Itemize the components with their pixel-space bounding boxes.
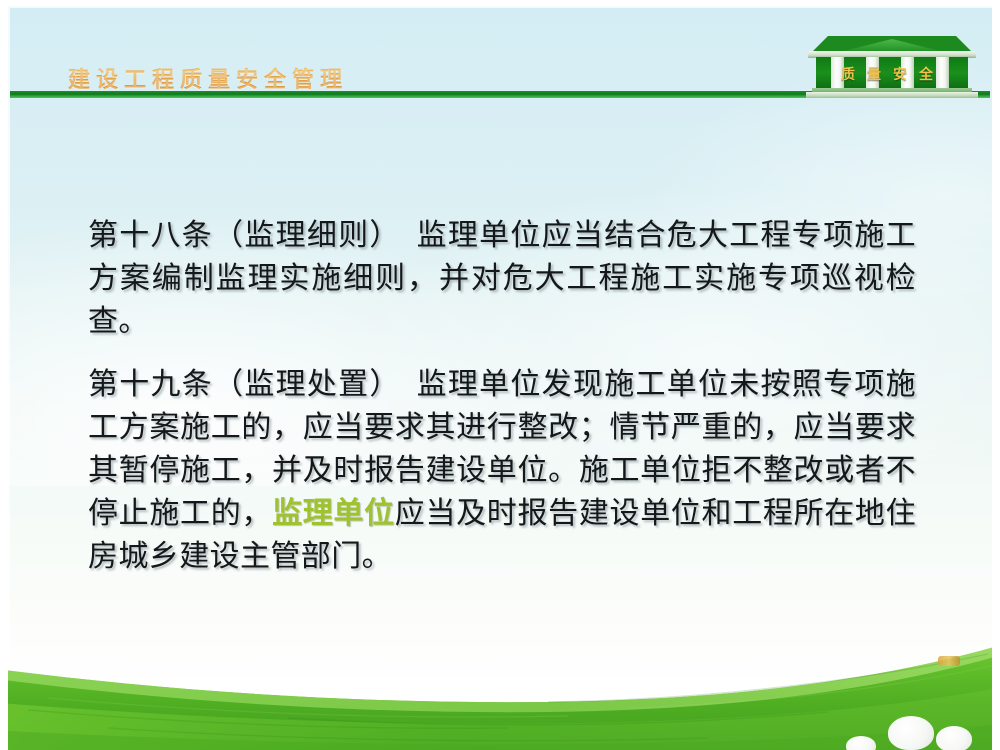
article-19-prefix: 第十九条（监理处置） — [88, 368, 386, 401]
paragraph-article-18: 第十八条（监理细则） 监理单位应当结合危大工程专项施工方案编制监理实施细则，并对… — [88, 214, 916, 343]
slide-canvas: 建设工程质量安全管理 质量安全 第十八条（监理细则） 监理单位应当结合危大工程专… — [0, 0, 1000, 750]
sheep-icon — [846, 736, 876, 750]
article-19-spacer — [386, 368, 417, 401]
logo-base-lower — [806, 92, 978, 98]
highlighted-term-supervision-unit: 监理单位 — [272, 497, 395, 530]
quality-safety-building-logo: 质量安全 — [806, 36, 978, 98]
page-title: 建设工程质量安全管理 — [68, 62, 348, 94]
grass-field-decoration — [8, 620, 992, 750]
article-18-spacer — [386, 219, 417, 252]
slide-body: 第十八条（监理细则） 监理单位应当结合危大工程专项施工方案编制监理实施细则，并对… — [88, 214, 916, 592]
hillside-twig-icon — [938, 656, 960, 666]
sheep-icon — [888, 716, 934, 750]
paragraph-article-19: 第十九条（监理处置） 监理单位发现施工单位未按照专项施工方案施工的，应当要求其进… — [88, 363, 916, 578]
article-18-prefix: 第十八条（监理细则） — [88, 219, 386, 252]
grass-hill-illustration — [8, 620, 992, 750]
sheep-icon — [936, 726, 972, 750]
logo-label: 质量安全 — [824, 64, 962, 84]
